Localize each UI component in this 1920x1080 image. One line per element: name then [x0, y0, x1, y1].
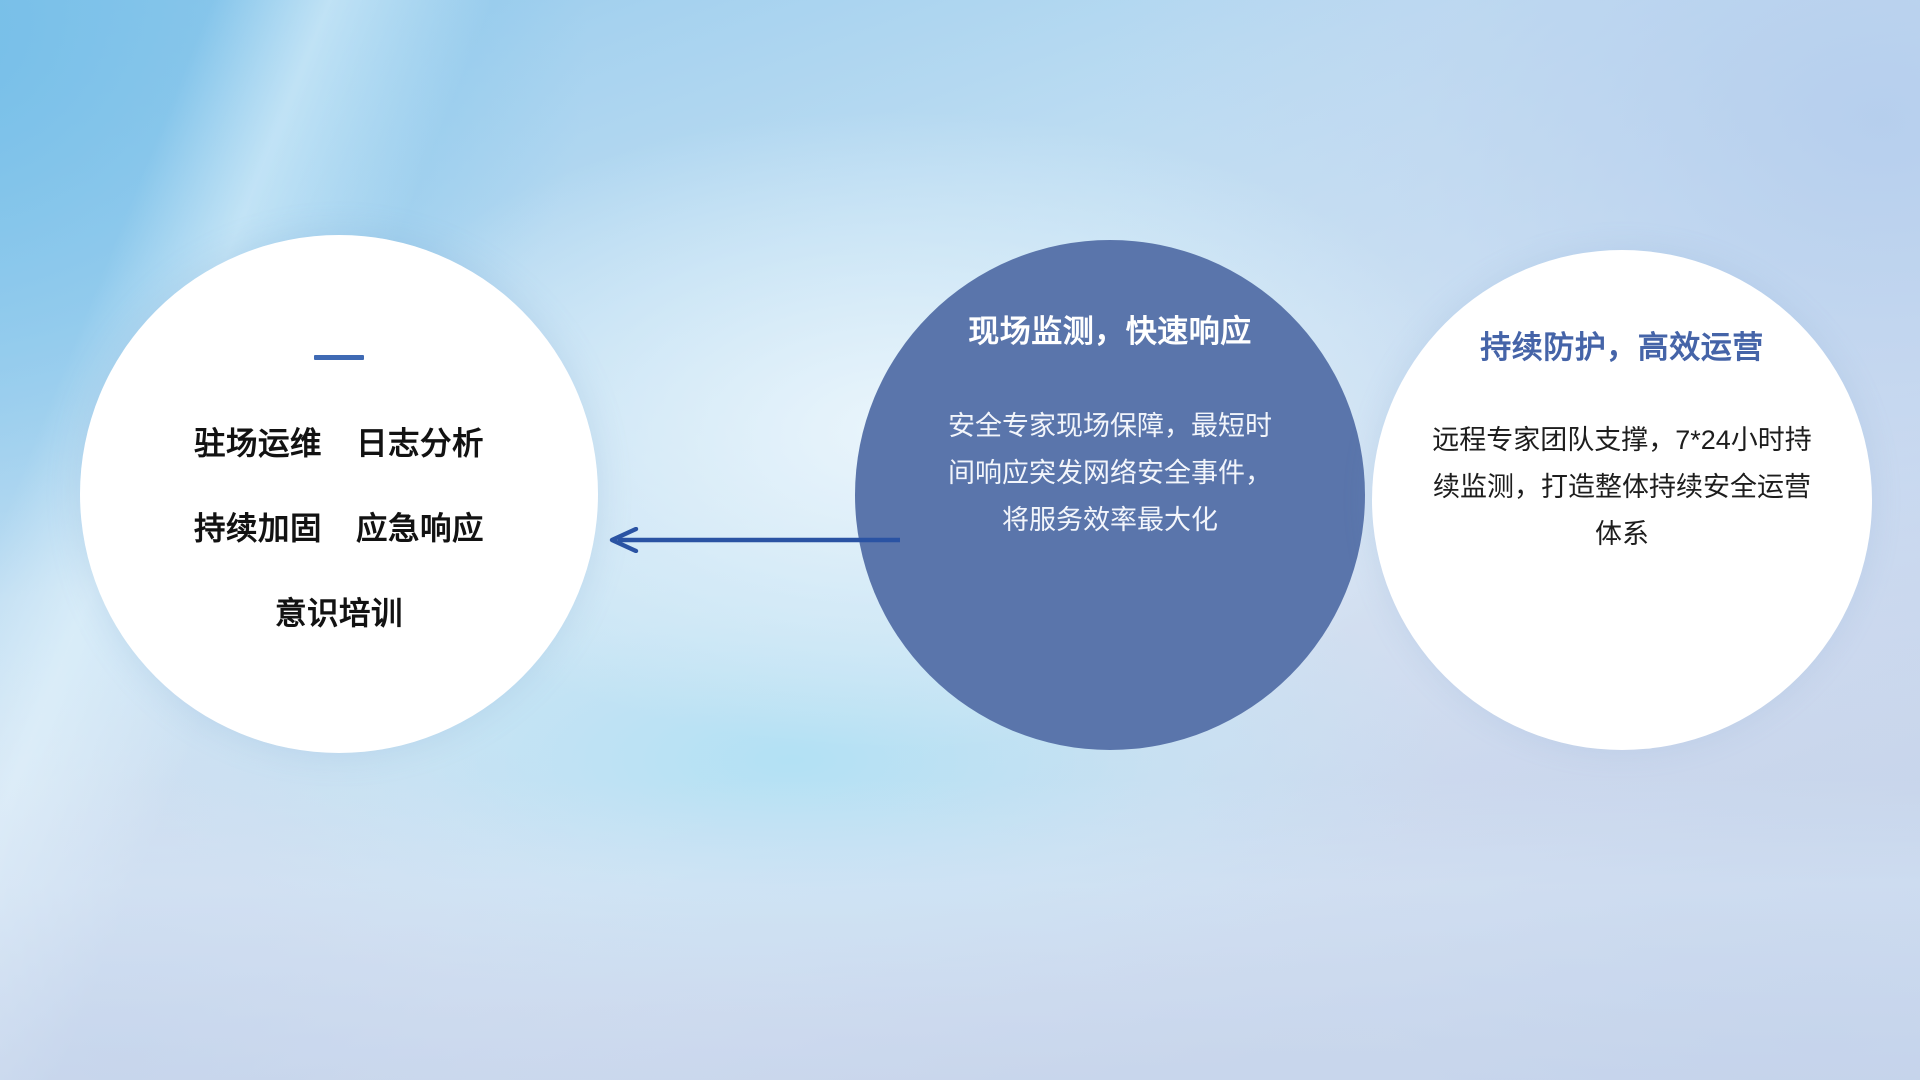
capability-item: 持续加固: [194, 503, 322, 549]
capabilities-circle[interactable]: 驻场运维 日志分析 持续加固 应急响应 意识培训: [80, 235, 598, 753]
capabilities-row: 持续加固 应急响应: [194, 503, 484, 549]
onsite-monitoring-title: 现场监测，快速响应: [968, 306, 1252, 351]
onsite-monitoring-circle[interactable]: 现场监测，快速响应 安全专家现场保障，最短时间响应突发网络安全事件，将服务效率最…: [855, 240, 1365, 750]
capability-item: 应急响应: [356, 503, 484, 549]
continuous-protection-title: 持续防护，高效运营: [1480, 322, 1764, 367]
capabilities-row: 驻场运维 日志分析: [194, 418, 484, 464]
onsite-monitoring-body: 安全专家现场保障，最短时间响应突发网络安全事件，将服务效率最大化: [945, 403, 1275, 544]
capabilities-list: 驻场运维 日志分析 持续加固 应急响应 意识培训: [194, 418, 484, 634]
continuous-protection-circle[interactable]: 持续防护，高效运营 远程专家团队支撑，7*24小时持续监测，打造整体持续安全运营…: [1372, 250, 1872, 750]
capability-item: 意识培训: [275, 588, 403, 634]
left-arrow-icon: [600, 527, 900, 553]
capability-item: 日志分析: [356, 418, 484, 464]
continuous-protection-body: 远程专家团队支撑，7*24小时持续监测，打造整体持续安全运营体系: [1420, 417, 1824, 558]
divider-dash: [314, 355, 364, 360]
diagram-stage: 驻场运维 日志分析 持续加固 应急响应 意识培训 现场监测，快速响应 安全专家现…: [0, 0, 1920, 1080]
capabilities-row: 意识培训: [275, 588, 403, 634]
capability-item: 驻场运维: [194, 418, 322, 464]
